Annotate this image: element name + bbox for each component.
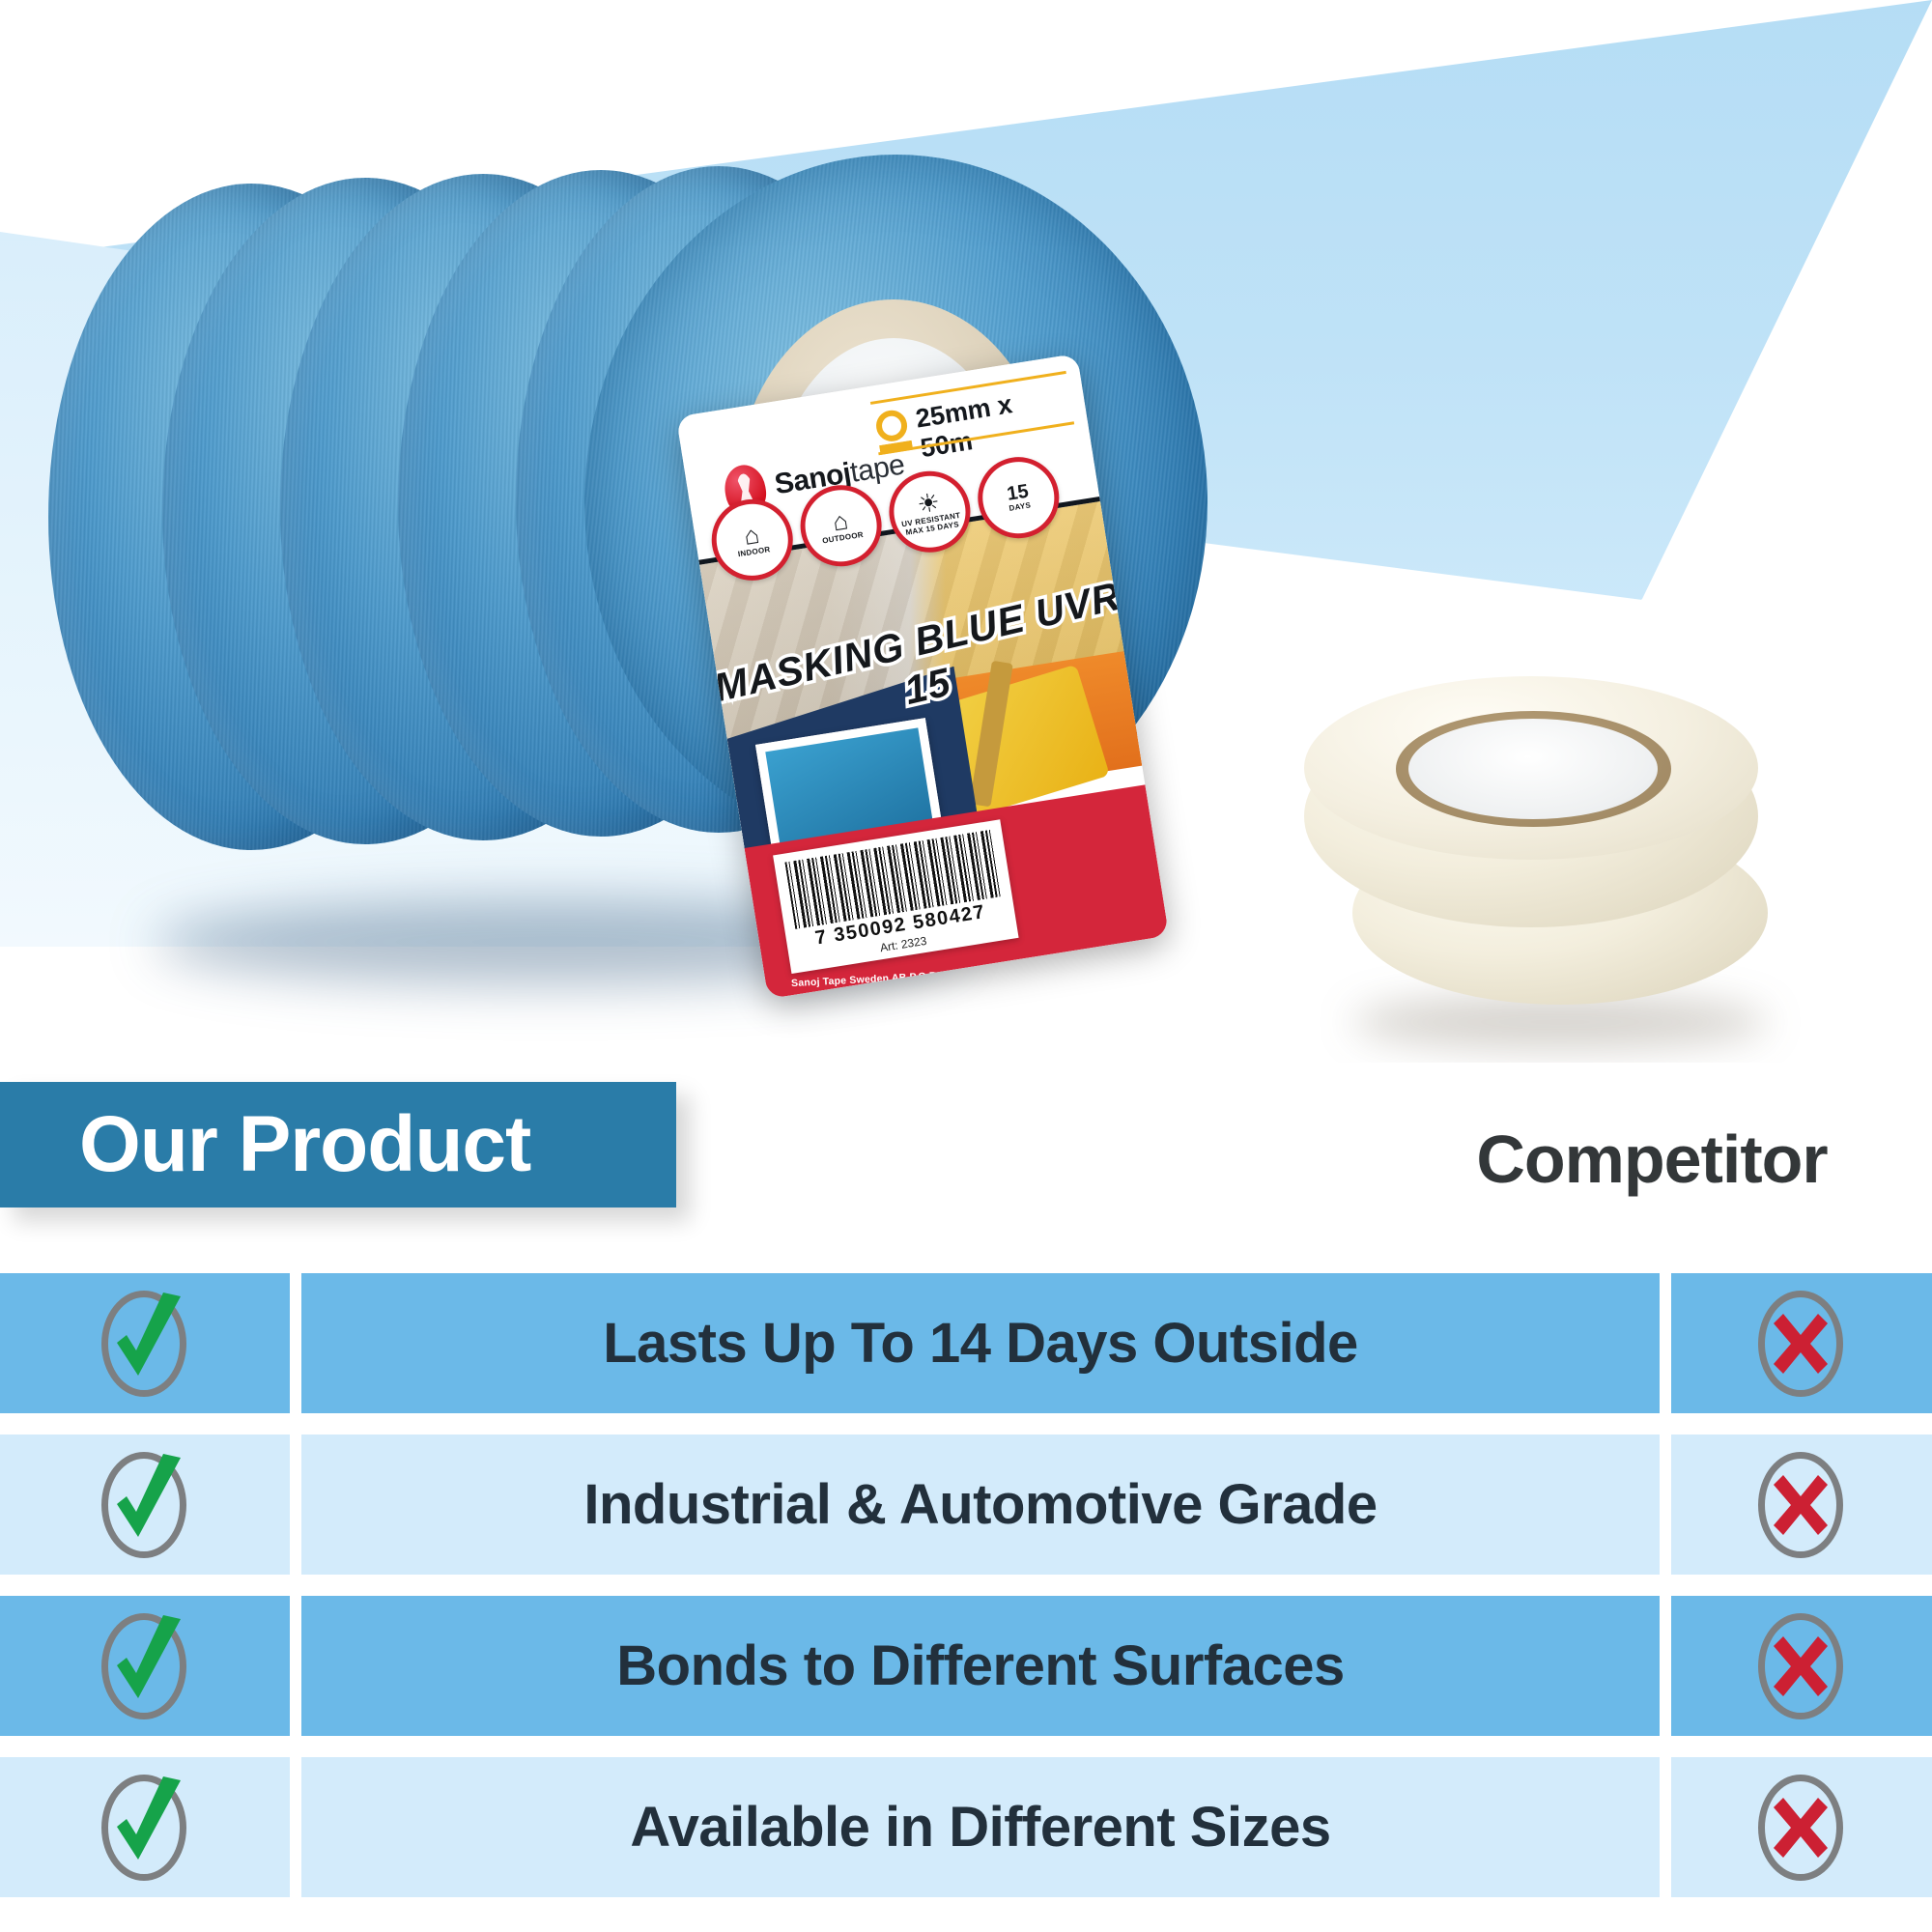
feature-label-cell-2: Bonds to Different Surfaces xyxy=(301,1596,1660,1736)
feature-label-cell-1: Industrial & Automotive Grade xyxy=(301,1435,1660,1575)
red-cross-icon xyxy=(1745,1448,1859,1562)
our-product-check-cell-0 xyxy=(0,1273,290,1413)
red-cross-icon xyxy=(1745,1609,1859,1723)
feature-label-cell-0: Lasts Up To 14 Days Outside xyxy=(301,1273,1660,1413)
our-product-banner: Our Product xyxy=(0,1082,676,1207)
competitor-cross-cell-2 xyxy=(1671,1596,1932,1736)
green-check-icon xyxy=(88,1609,202,1723)
table-row: Industrial & Automotive Grade xyxy=(0,1435,1932,1575)
hero-product-photo: Sanojtape 25mm x 50m ⌂ INDOOR ⌂ OU xyxy=(0,0,1932,1063)
badge-uv-caption: UV RESISTANT MAX 15 DAYS xyxy=(895,511,969,538)
our-product-title: Our Product xyxy=(79,1105,530,1184)
competitor-cross-cell-1 xyxy=(1671,1435,1932,1575)
table-row: Available in Different Sizes xyxy=(0,1757,1932,1897)
feature-label-2: Bonds to Different Surfaces xyxy=(616,1634,1345,1698)
badge-outdoor-caption: OUTDOOR xyxy=(819,531,867,547)
competitor-cross-cell-0 xyxy=(1671,1273,1932,1413)
badge-indoor-caption: INDOOR xyxy=(735,546,775,560)
competitor-cross-cell-3 xyxy=(1671,1757,1932,1897)
house-outdoor-icon: ⌂ xyxy=(831,508,850,535)
our-product-check-cell-2 xyxy=(0,1596,290,1736)
feature-label-3: Available in Different Sizes xyxy=(630,1795,1330,1860)
competitor-tape-rolls xyxy=(1294,676,1835,1063)
feature-label-1: Industrial & Automotive Grade xyxy=(583,1472,1377,1537)
tape-measure-icon xyxy=(874,408,912,443)
badge-outdoor: ⌂ OUTDOOR xyxy=(795,479,888,572)
competitor-banner: Competitor xyxy=(1449,1121,1855,1198)
our-product-check-cell-3 xyxy=(0,1757,290,1897)
table-row: Bonds to Different Surfaces xyxy=(0,1596,1932,1736)
badge-uv-resistant: ☀ UV RESISTANT MAX 15 DAYS xyxy=(883,466,976,558)
green-check-icon xyxy=(88,1448,202,1562)
house-icon: ⌂ xyxy=(742,522,761,549)
red-cross-icon xyxy=(1745,1771,1859,1885)
red-cross-icon xyxy=(1745,1287,1859,1401)
green-check-icon xyxy=(88,1771,202,1885)
competitor-title: Competitor xyxy=(1476,1122,1827,1197)
our-product-check-cell-1 xyxy=(0,1435,290,1575)
competitor-roll-core-hole xyxy=(1408,719,1658,819)
green-check-icon xyxy=(88,1287,202,1401)
feature-label-0: Lasts Up To 14 Days Outside xyxy=(603,1311,1358,1376)
badge-days-caption: DAYS xyxy=(1006,501,1035,514)
badge-indoor: ⌂ INDOOR xyxy=(706,494,799,586)
table-row: Lasts Up To 14 Days Outside xyxy=(0,1273,1932,1413)
feature-label-cell-3: Available in Different Sizes xyxy=(301,1757,1660,1897)
comparison-table: Lasts Up To 14 Days Outside Industrial &… xyxy=(0,1273,1932,1918)
badge-15-days: 15 DAYS xyxy=(972,451,1065,544)
sun-uv-icon: ☀ xyxy=(916,489,942,517)
